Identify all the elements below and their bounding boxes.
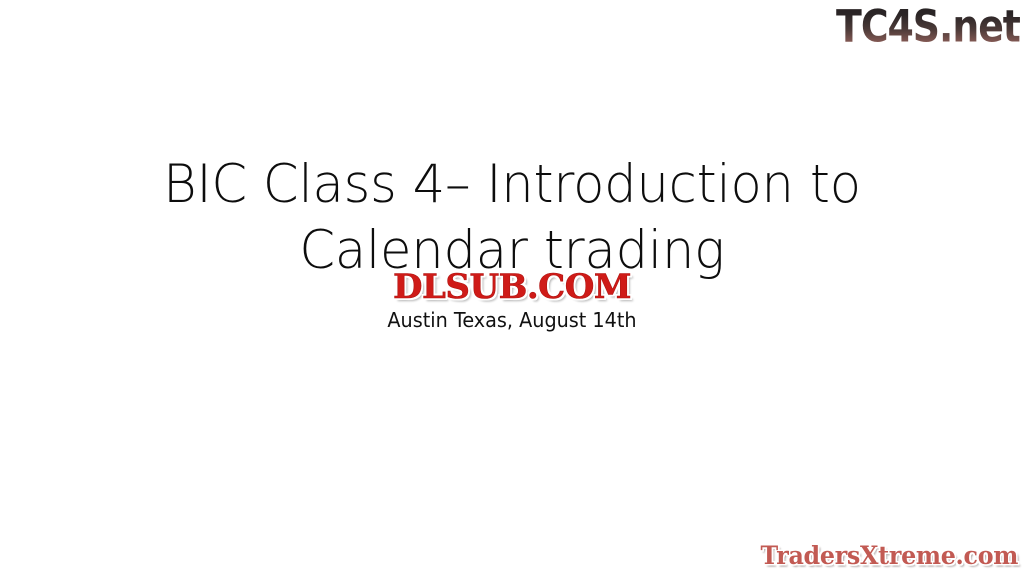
slide-title-line-1: BIC Class 4– Introduction to <box>18 152 1006 218</box>
tradersxtreme-watermark: TradersXtreme.com <box>760 541 1018 571</box>
slide-title: BIC Class 4– Introduction to Calendar tr… <box>0 152 1024 284</box>
presentation-slide: TC4S.net TC4S.net BIC Class 4– Introduct… <box>0 0 1024 576</box>
dlsub-watermark: DLSUB.COM <box>393 268 631 306</box>
slide-subtitle: Austin Texas, August 14th <box>20 307 1003 333</box>
tc4s-watermark: TC4S.net <box>836 1 1020 53</box>
